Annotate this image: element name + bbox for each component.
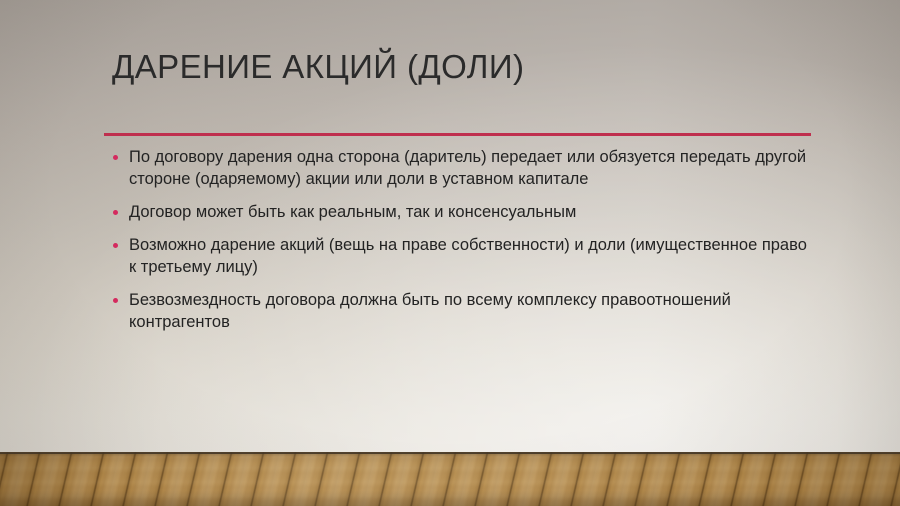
slide-content: ДАРЕНИЕ АКЦИЙ (ДОЛИ) По договору дарения… (0, 0, 900, 506)
bullet-item: По договору дарения одна сторона (дарите… (110, 147, 810, 191)
bullet-list: По договору дарения одна сторона (дарите… (110, 147, 810, 334)
bullet-dot-icon (113, 210, 118, 215)
bullet-dot-icon (113, 155, 118, 160)
bullet-text: Договор может быть как реальным, так и к… (129, 203, 576, 221)
bullet-text: Возможно дарение акций (вещь на праве со… (129, 236, 807, 276)
bullet-dot-icon (113, 298, 118, 303)
bullet-item: Безвозмездность договора должна быть по … (110, 290, 810, 334)
bullet-text: По договору дарения одна сторона (дарите… (129, 148, 806, 188)
presentation-slide: ДАРЕНИЕ АКЦИЙ (ДОЛИ) По договору дарения… (0, 0, 900, 506)
bullet-dot-icon (113, 243, 118, 248)
bullet-text: Безвозмездность договора должна быть по … (129, 291, 731, 331)
bullet-item: Договор может быть как реальным, так и к… (110, 202, 810, 224)
slide-title: ДАРЕНИЕ АКЦИЙ (ДОЛИ) (112, 48, 832, 86)
bullet-item: Возможно дарение акций (вещь на праве со… (110, 235, 810, 279)
title-divider-rule (104, 133, 811, 136)
